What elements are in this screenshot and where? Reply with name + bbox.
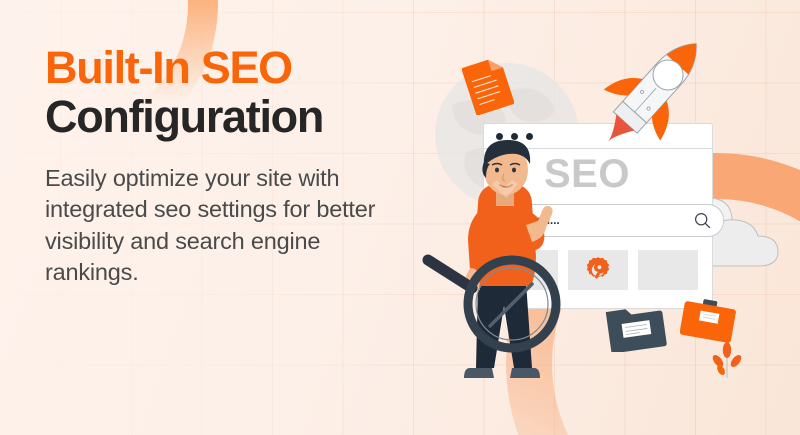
gear-wrench-icon xyxy=(583,255,613,285)
folder-orange-icon xyxy=(680,298,736,344)
headline-line-2: Configuration xyxy=(45,93,420,142)
seo-feature-banner: Built-In SEO Configuration Easily optimi… xyxy=(0,0,800,435)
content-tile[interactable] xyxy=(638,250,698,290)
magnifying-glass-icon xyxy=(420,248,575,358)
document-icon xyxy=(462,57,514,115)
page-title: Built-In SEO Configuration xyxy=(45,44,420,141)
headline-line-1: Built-In SEO xyxy=(45,44,420,93)
magnifier-icon xyxy=(694,212,711,229)
rocket-icon xyxy=(588,30,738,170)
banner-copy: Built-In SEO Configuration Easily optimi… xyxy=(45,44,420,288)
banner-description: Easily optimize your site with integrate… xyxy=(45,163,420,288)
plant-sprig-icon xyxy=(710,340,744,380)
folder-dark-icon xyxy=(605,300,667,352)
